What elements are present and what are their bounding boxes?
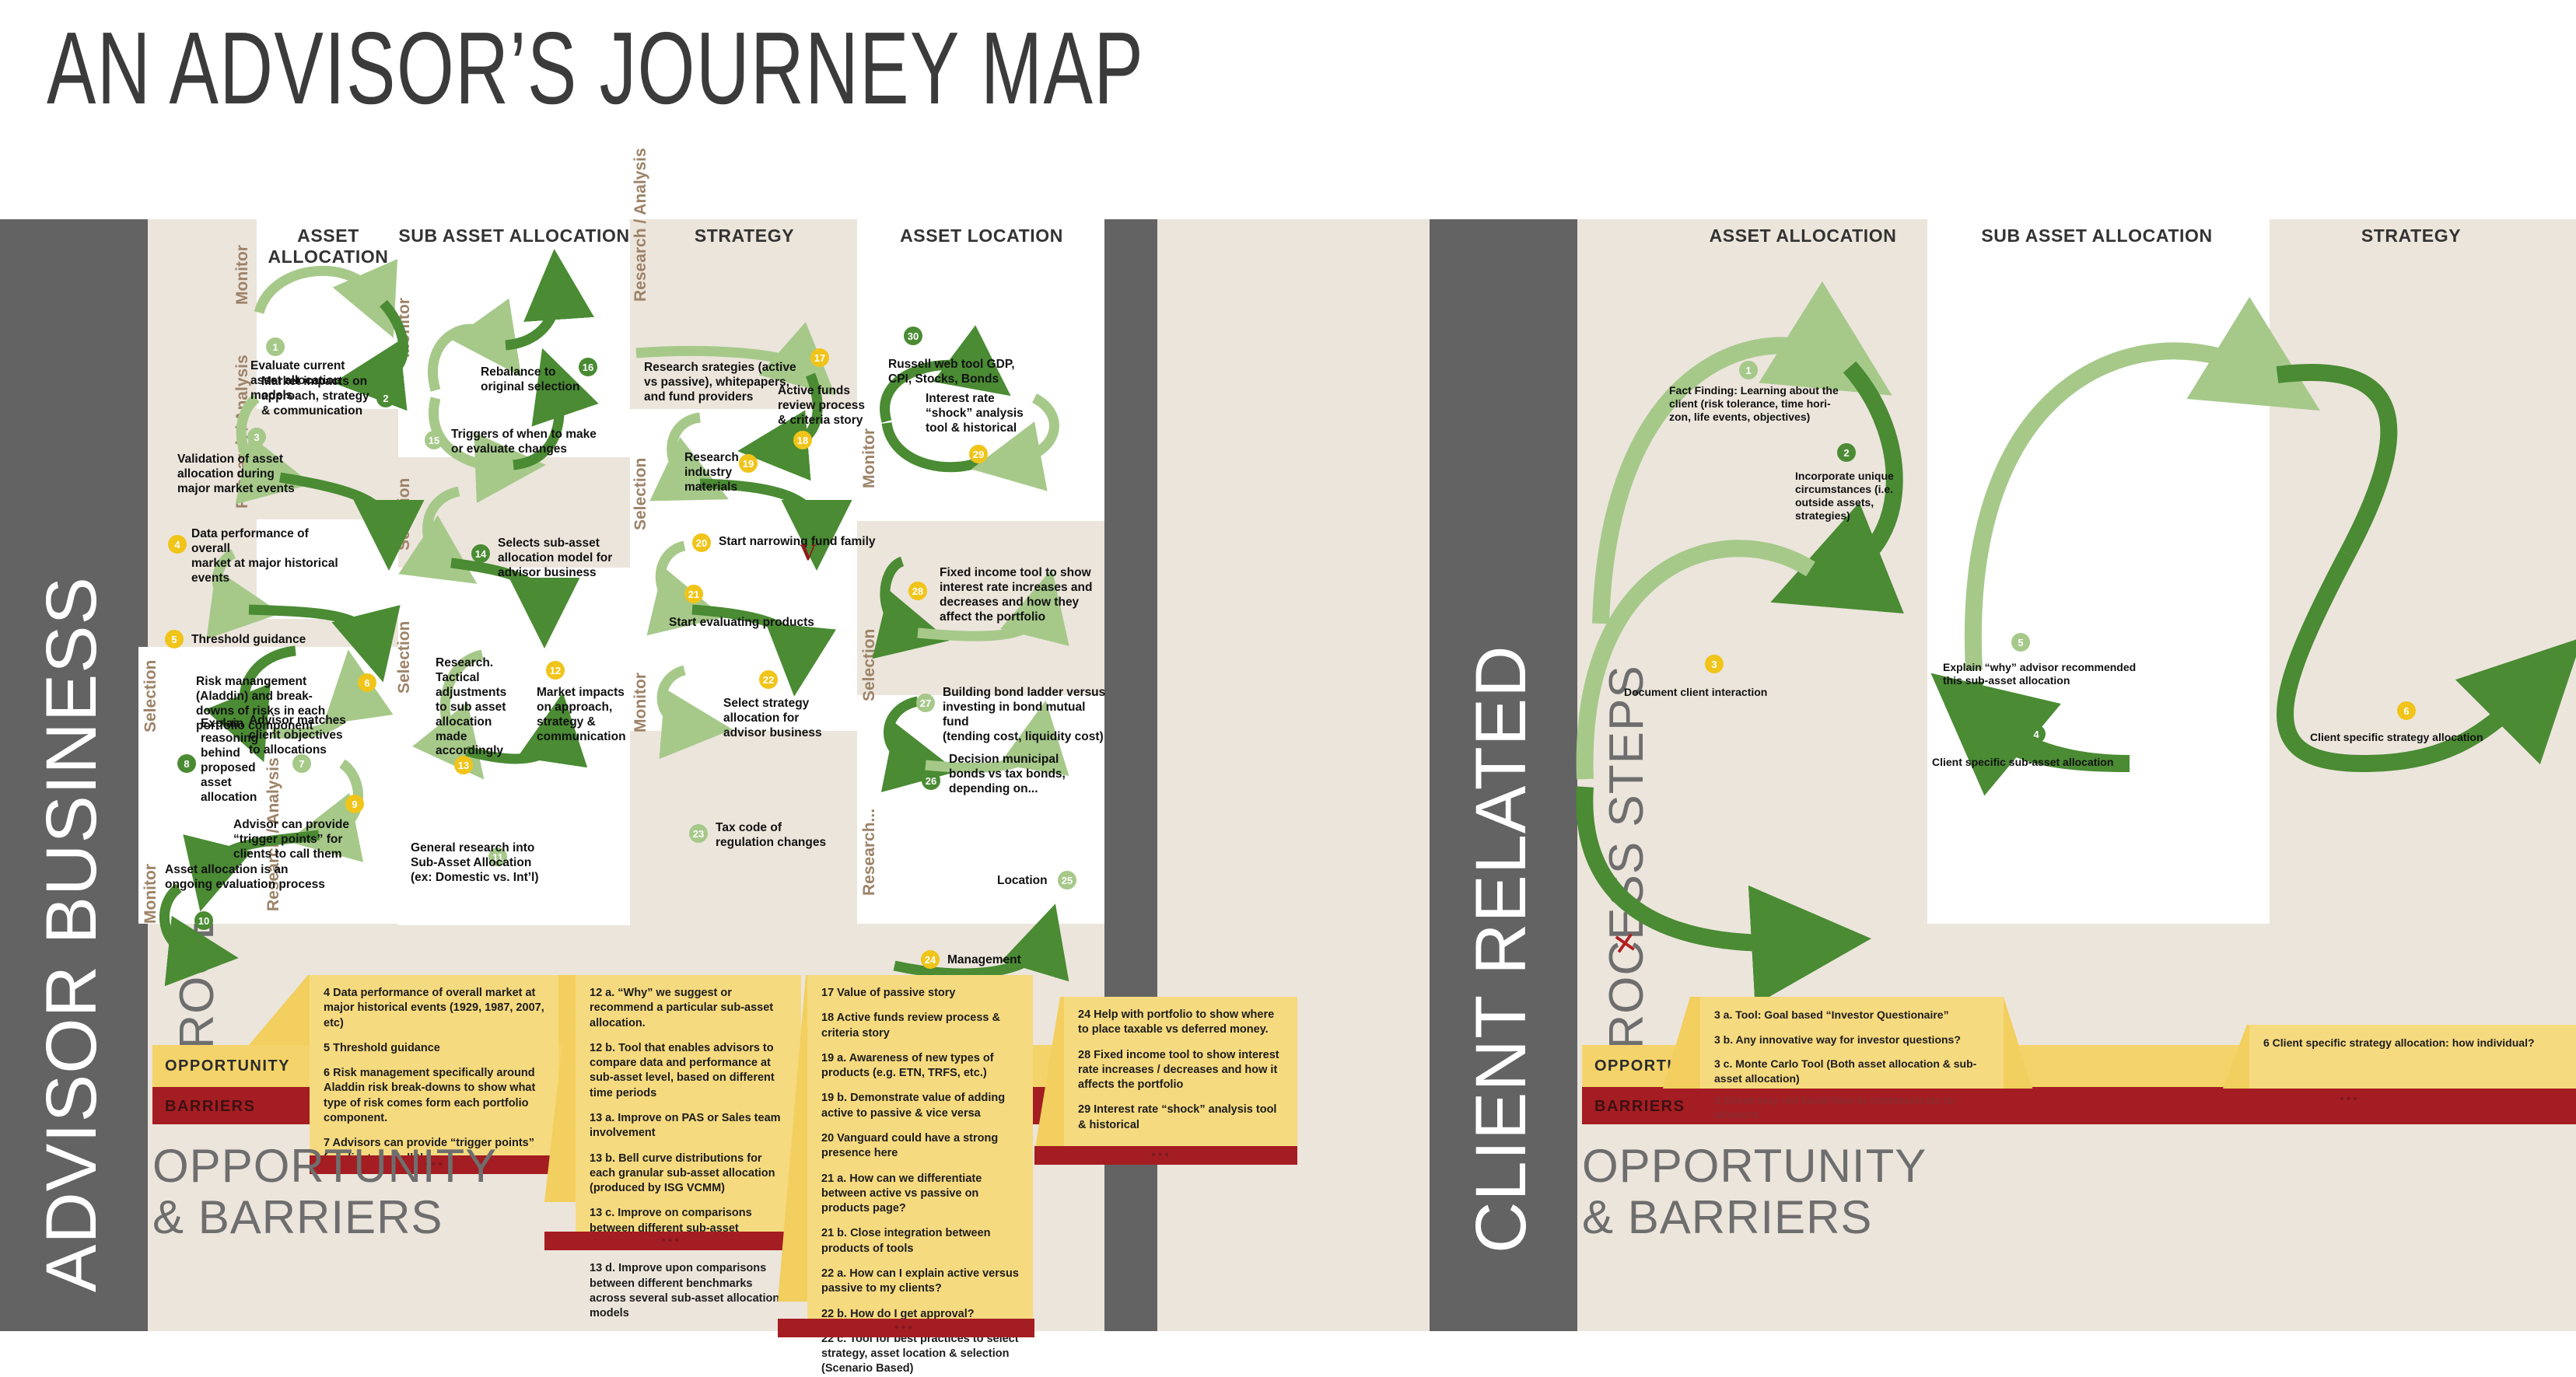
step-badge-18: 18	[793, 431, 812, 449]
step-badge-24: 24	[921, 950, 940, 969]
step-badge-27: 27	[916, 694, 935, 712]
opportunity-item: 13 d. Improve upon comparisons between d…	[590, 1261, 787, 1321]
phase-label-selection: Selection	[395, 621, 414, 694]
step-text-12: Market impacts on approach, strategy & c…	[537, 686, 635, 745]
barrier-strip-2: •••	[544, 1232, 801, 1250]
step-badge-8: 8	[177, 754, 196, 773]
step-badge-23: 23	[689, 824, 708, 843]
step-text-19: Research industry materials	[684, 451, 739, 495]
step-badge-10: 10	[194, 911, 213, 930]
step-text-18: Active funds review process & criteria s…	[778, 384, 879, 428]
opportunity-item: 13 a. Improve on PAS or Sales team invol…	[590, 1111, 787, 1141]
step-text-16: Rebalance to original selection	[481, 365, 605, 395]
opportunity-item: 21 a. How can we differentiate between a…	[821, 1172, 1019, 1217]
step-badge-21: 21	[684, 585, 703, 603]
step-text-28: Fixed income tool to show interest rate …	[940, 566, 1104, 625]
step-text-5: Threshold guidance	[191, 633, 339, 648]
step-text-11: General research into Sub-Asset Allocati…	[411, 841, 566, 886]
right-opportunity-box-2: 6 Client specific strategy allocation: h…	[2249, 1025, 2576, 1089]
step-badge-1: 1	[266, 337, 285, 356]
phase-label-selection: Selection	[860, 629, 879, 701]
right-step-badge-4: 4	[2027, 725, 2046, 743]
phase-label-monitor: Monitor	[142, 864, 160, 924]
right-step-badge-2: 2	[1837, 443, 1856, 462]
step-text-27: Building bond ladder versus investing in…	[943, 686, 1106, 745]
left-footer-line1: OPPORTUNITY	[152, 1141, 497, 1190]
phase-label-monitor: Monitor	[860, 428, 879, 488]
opportunity-item: 29 Interest rate “shock” analysis tool &…	[1078, 1103, 1283, 1133]
side-label-advisor-business: ADVISOR BUSINESS	[31, 576, 113, 1292]
step-badge-14: 14	[471, 544, 490, 563]
step-badge-19: 19	[739, 454, 758, 473]
ellipsis: •••	[661, 1234, 681, 1248]
right-barrier-text-1: 3 Client may not know how to communicate…	[1700, 1089, 2004, 1126]
step-badge-3: 3	[247, 428, 266, 446]
right-opportunity-box-1: 3 a. Tool: Goal based “Investor Question…	[1700, 997, 2004, 1089]
barrier-strip-4: •••	[1034, 1146, 1297, 1165]
swim-block	[398, 218, 630, 457]
panel-client-related: CLIENT RELATED PROCESS STEPS ASSET ALLOC…	[1430, 219, 2576, 1331]
left-col-heading-sub-asset-allocation: SUB ASSET ALLOCATION	[398, 225, 630, 246]
swim-block	[1927, 218, 2270, 924]
opportunity-item: 28 Fixed income tool to show interest ra…	[1078, 1048, 1283, 1093]
opportunity-item: 12 b. Tool that enables advisors to comp…	[590, 1041, 787, 1101]
opportunity-item: 3 a. Tool: Goal based “Investor Question…	[1714, 1008, 1990, 1022]
right-step-text-1: Fact Finding: Learning about the client …	[1669, 384, 1871, 424]
step-badge-28: 28	[908, 582, 927, 600]
step-text-24: Management	[947, 953, 1072, 968]
step-text-22: Select strategy allocation for advisor b…	[723, 697, 848, 741]
left-col-heading-strategy: STRATEGY	[632, 225, 857, 246]
left-footer-line2: & BARRIERS	[152, 1193, 443, 1242]
right-col-heading-strategy: STRATEGY	[2279, 225, 2543, 246]
right-step-badge-6: 6	[2397, 701, 2416, 720]
panel-advisor-business: ADVISOR BUSINESS PROCESS STEPS ASSET ALL…	[0, 219, 1430, 1331]
opportunity-item: 6 Client specific strategy allocation: h…	[2263, 1036, 2562, 1050]
step-badge-4: 4	[168, 535, 187, 554]
opportunity-item: 22 c. Tool for best practices to select …	[821, 1332, 1019, 1377]
left-col-heading-asset-allocation: ASSET ALLOCATION	[258, 225, 398, 267]
right-barrier-strip-2: •••	[2223, 1089, 2576, 1110]
opportunity-item: 18 Active funds review process & criteri…	[821, 1011, 1019, 1041]
step-text-14: Selects sub-asset allocation model for a…	[498, 536, 628, 581]
step-badge-9: 9	[345, 795, 364, 813]
opportunity-item: 3 c. Monte Carlo Tool (Both asset alloca…	[1714, 1057, 1990, 1085]
phase-label-monitor: Monitor	[395, 298, 414, 358]
step-badge-22: 22	[759, 670, 778, 689]
ellipsis: •••	[1151, 1148, 1171, 1162]
opportunity-item: 24 Help with portfolio to show where to …	[1078, 1008, 1283, 1038]
step-text-10: Asset allocation is an ongoing evaluatio…	[165, 863, 336, 893]
right-col-heading-asset-allocation: ASSET ALLOCATION	[1686, 225, 1920, 246]
right-step-text-6: Client specific strategy allocation	[2310, 731, 2543, 744]
step-text-9: Advisor can provide “trigger points” for…	[233, 818, 373, 862]
opportunity-item: 21 b. Close integration between products…	[821, 1226, 1019, 1256]
right-step-text-3: Document client interaction	[1624, 686, 1842, 699]
opportunity-label: OPPORTUNITY	[165, 1057, 290, 1075]
step-text-30: Russell web tool GDP, CPI, Stocks, Bonds	[888, 358, 1044, 387]
step-badge-20: 20	[692, 533, 711, 552]
opportunity-box-2: 12 a. “Why” we suggest or recommend a pa…	[576, 975, 801, 1232]
right-step-badge-3: 3	[1705, 655, 1724, 673]
step-text-23: Tax code of regulation changes	[716, 821, 840, 851]
left-col-heading-asset-location: ASSET LOCATION	[860, 225, 1103, 246]
right-step-text-2: Incorporate unique circumstances (i.e. o…	[1795, 470, 1912, 522]
opportunity-item: 12 a. “Why” we suggest or recommend a pa…	[590, 986, 787, 1031]
step-text-3: Validation of asset allocation during ma…	[177, 453, 317, 497]
right-footer-line1: OPPORTUNITY	[1582, 1141, 1927, 1190]
phase-label-monitor: Monitor	[233, 245, 252, 305]
barriers-label: BARRIERS	[165, 1098, 255, 1116]
opportunity-item: 17 Value of passive story	[821, 986, 1019, 1001]
step-badge-5: 5	[165, 630, 184, 648]
opportunity-item: 19 b. Demonstrate value of adding active…	[821, 1091, 1019, 1121]
barriers-label: BARRIERS	[1594, 1098, 1685, 1116]
side-label-client-related: CLIENT RELATED	[1461, 645, 1542, 1253]
ellipsis: •••	[894, 1321, 915, 1335]
step-text-2: Market impacts on approach, strategy & c…	[261, 375, 387, 419]
step-badge-15: 15	[425, 431, 443, 449]
step-badge-29: 29	[969, 445, 988, 463]
step-text-4: Data performance of overall market at ma…	[191, 527, 347, 586]
opportunity-item: 6 Risk management specifically around Al…	[324, 1066, 544, 1126]
step-badge-12: 12	[546, 661, 565, 680]
opportunity-item: 20 Vanguard could have a strong presence…	[821, 1131, 1019, 1162]
right-step-badge-1: 1	[1739, 361, 1758, 379]
barrier-strip-3: •••	[778, 1319, 1034, 1337]
step-badge-30: 30	[904, 327, 922, 345]
right-step-text-4: Client specific sub-asset allocation	[1932, 756, 2165, 769]
step-badge-17: 17	[810, 348, 829, 367]
phase-label-selection: Selection	[632, 458, 650, 530]
opportunity-item: 5 Threshold guidance	[324, 1041, 544, 1056]
right-step-badge-5: 5	[2011, 633, 2030, 652]
phase-label-research: Research / Analysis	[632, 148, 650, 302]
phase-label-selection: Selection	[395, 478, 414, 550]
opportunity-box-3: 17 Value of passive story18 Active funds…	[807, 975, 1033, 1319]
page-title: AN ADVISOR’S JOURNEY MAP	[47, 17, 1144, 120]
v-annotation: V	[800, 540, 817, 566]
step-text-13: Research. Tactical adjustments to sub as…	[436, 656, 521, 759]
ellipsis: •••	[2340, 1092, 2360, 1106]
opportunity-item: 22 a. How can I explain active versus pa…	[821, 1267, 1019, 1297]
right-barrier-box-1: 3 Client may not know how to communicate…	[1700, 1089, 2004, 1124]
opportunity-item: 19 a. Awareness of new types of products…	[821, 1051, 1019, 1082]
opportunity-box-4: 24 Help with portfolio to show where to …	[1064, 997, 1297, 1146]
opportunity-box-1: 4 Data performance of overall market at …	[310, 975, 558, 1155]
step-text-8: Explain reasoning behind proposed asset …	[201, 717, 282, 805]
opportunity-item: 13 b. Bell curve distributions for each …	[590, 1152, 787, 1197]
step-text-21: Start evaluating products	[669, 616, 824, 631]
step-text-25: Location	[997, 874, 1059, 889]
opportunity-item: 4 Data performance of overall market at …	[324, 986, 544, 1031]
right-col-heading-sub-asset-allocation: SUB ASSET ALLOCATION	[1940, 225, 2254, 246]
right-process-steps-label: PROCESS STEPS	[1599, 665, 1654, 1082]
step-badge-25: 25	[1058, 871, 1076, 889]
step-text-15: Triggers of when to make or evaluate cha…	[451, 428, 607, 457]
step-text-26: Decision municipal bonds vs tax bonds, d…	[949, 753, 1089, 797]
step-badge-6: 6	[358, 673, 376, 692]
step-badge-26: 26	[922, 771, 940, 790]
phase-label-selection: Selection	[142, 660, 160, 732]
step-text-29: Interest rate “shock” analysis tool & hi…	[926, 392, 1034, 436]
right-footer-line2: & BARRIERS	[1582, 1193, 1872, 1242]
right-step-text-5: Explain “why” advisor recommended this s…	[1943, 661, 2161, 687]
phase-label-research: Research...	[860, 809, 879, 896]
opportunity-item: 3 b. Any innovative way for investor que…	[1714, 1033, 1990, 1047]
